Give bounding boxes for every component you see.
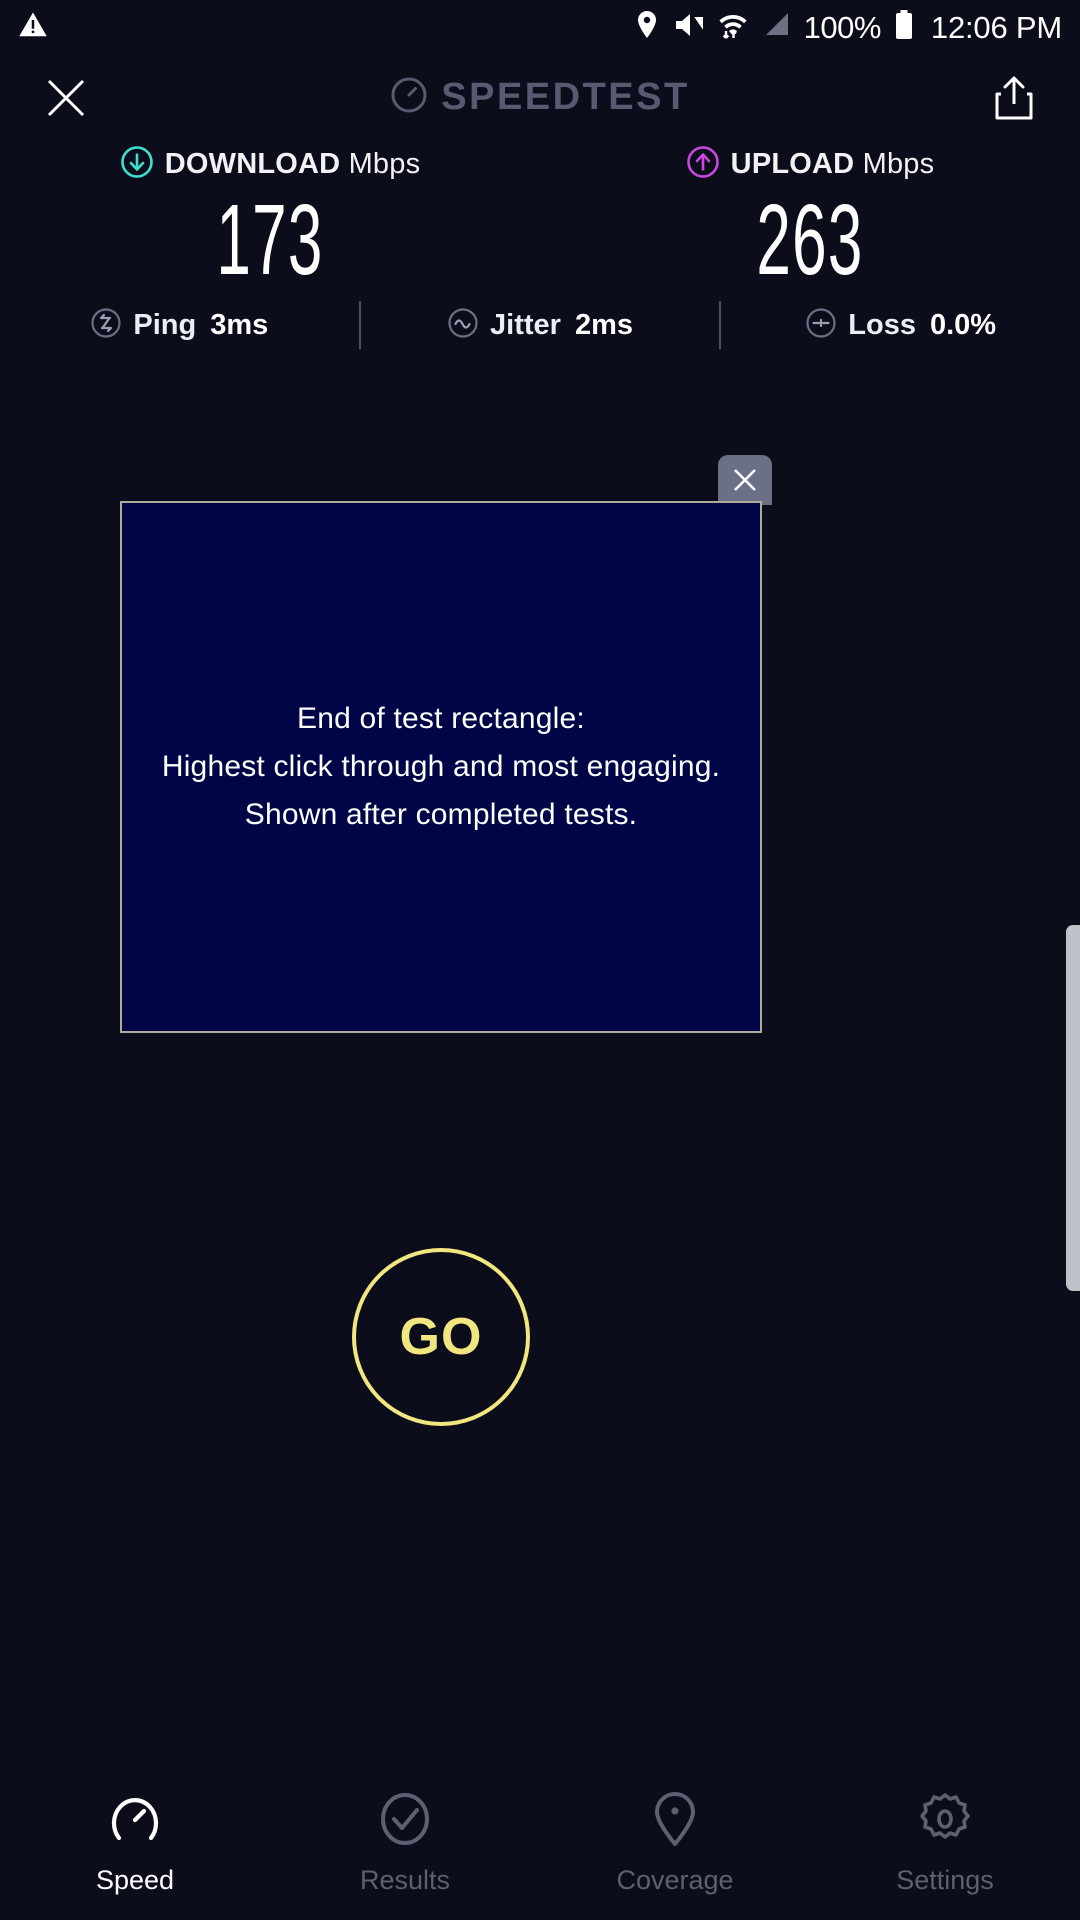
metric-ping-value: 3ms — [210, 309, 268, 342]
nav-label-settings: Settings — [896, 1865, 994, 1896]
metric-loss: Loss 0.0% — [721, 307, 1080, 344]
close-button[interactable] — [38, 70, 94, 126]
download-header: DOWNLOAD Mbps — [0, 140, 540, 188]
jitter-icon — [447, 307, 479, 344]
upload-value: 263 — [643, 188, 978, 292]
nav-item-speed[interactable]: Speed — [0, 1790, 270, 1896]
metric-ping: Ping 3ms — [0, 307, 359, 344]
nav-item-results[interactable]: Results — [270, 1790, 540, 1896]
results-panel: DOWNLOAD Mbps 173 UPLOAD Mbps 263 — [0, 140, 1080, 292]
upload-label: UPLOAD Mbps — [731, 148, 935, 181]
nav-item-settings[interactable]: Settings — [810, 1790, 1080, 1896]
go-button-label: GO — [400, 1307, 483, 1367]
upload-header: UPLOAD Mbps — [540, 140, 1080, 188]
nav-item-coverage[interactable]: Coverage — [540, 1790, 810, 1896]
share-button[interactable] — [986, 70, 1042, 126]
check-circle-icon — [376, 1790, 434, 1853]
upload-result: UPLOAD Mbps 263 — [540, 140, 1080, 292]
page-scrollbar[interactable] — [1066, 925, 1080, 1291]
gear-icon — [916, 1790, 974, 1853]
speedometer-icon — [106, 1790, 164, 1853]
metric-jitter-label: Jitter — [490, 309, 561, 342]
upload-arrow-icon — [686, 145, 720, 184]
status-bar-clock: 12:06 PM — [931, 10, 1062, 46]
ad-line-3: Shown after completed tests. — [162, 791, 720, 839]
metric-jitter: Jitter 2ms — [361, 307, 720, 344]
brand-logo: SPEEDTEST — [94, 76, 986, 119]
metric-jitter-value: 2ms — [575, 309, 633, 342]
speedtest-app: 100% 12:06 PM SPEEDTEST — [0, 0, 1080, 1920]
ad-line-1: End of test rectangle: — [162, 695, 720, 743]
battery-percent-label: 100% — [804, 10, 881, 46]
nav-label-results: Results — [360, 1865, 450, 1896]
speed-readouts: DOWNLOAD Mbps 173 UPLOAD Mbps 263 — [0, 140, 1080, 292]
status-bar-right: 100% 12:06 PM — [634, 9, 1062, 46]
brand-title: SPEEDTEST — [441, 76, 689, 119]
warning-triangle-icon — [18, 10, 48, 45]
ping-icon — [90, 307, 122, 344]
advertisement-banner[interactable]: End of test rectangle: Highest click thr… — [120, 501, 762, 1033]
status-bar: 100% 12:06 PM — [0, 0, 1080, 55]
close-icon — [45, 77, 87, 119]
download-arrow-icon — [120, 145, 154, 184]
go-button[interactable]: GO — [352, 1248, 530, 1426]
location-pin-icon — [634, 10, 660, 45]
download-result: DOWNLOAD Mbps 173 — [0, 140, 540, 292]
wifi-icon — [718, 9, 748, 46]
speedometer-icon — [390, 76, 428, 119]
advertisement-container: End of test rectangle: Highest click thr… — [120, 501, 762, 1033]
nav-label-coverage: Coverage — [616, 1865, 733, 1896]
download-label: DOWNLOAD Mbps — [165, 148, 421, 181]
map-pin-icon — [646, 1790, 704, 1853]
metrics-row: Ping 3ms Jitter 2ms — [0, 295, 1080, 355]
nav-label-speed: Speed — [96, 1865, 174, 1896]
cellular-signal-icon — [761, 10, 791, 45]
metric-loss-label: Loss — [848, 309, 916, 342]
metric-ping-label: Ping — [133, 309, 196, 342]
battery-full-icon — [894, 9, 914, 46]
app-header: SPEEDTEST — [0, 55, 1080, 140]
share-icon — [994, 75, 1034, 121]
bottom-navigation: Speed Results Coverage — [0, 1776, 1080, 1920]
volume-mute-icon — [673, 10, 705, 45]
download-value: 173 — [103, 188, 438, 292]
close-icon — [731, 466, 759, 494]
ad-line-2: Highest click through and most engaging. — [162, 743, 720, 791]
status-bar-left — [18, 10, 48, 45]
ad-text: End of test rectangle: Highest click thr… — [148, 695, 734, 839]
metric-loss-value: 0.0% — [930, 309, 996, 342]
ad-close-button[interactable] — [718, 455, 772, 505]
loss-icon — [805, 307, 837, 344]
